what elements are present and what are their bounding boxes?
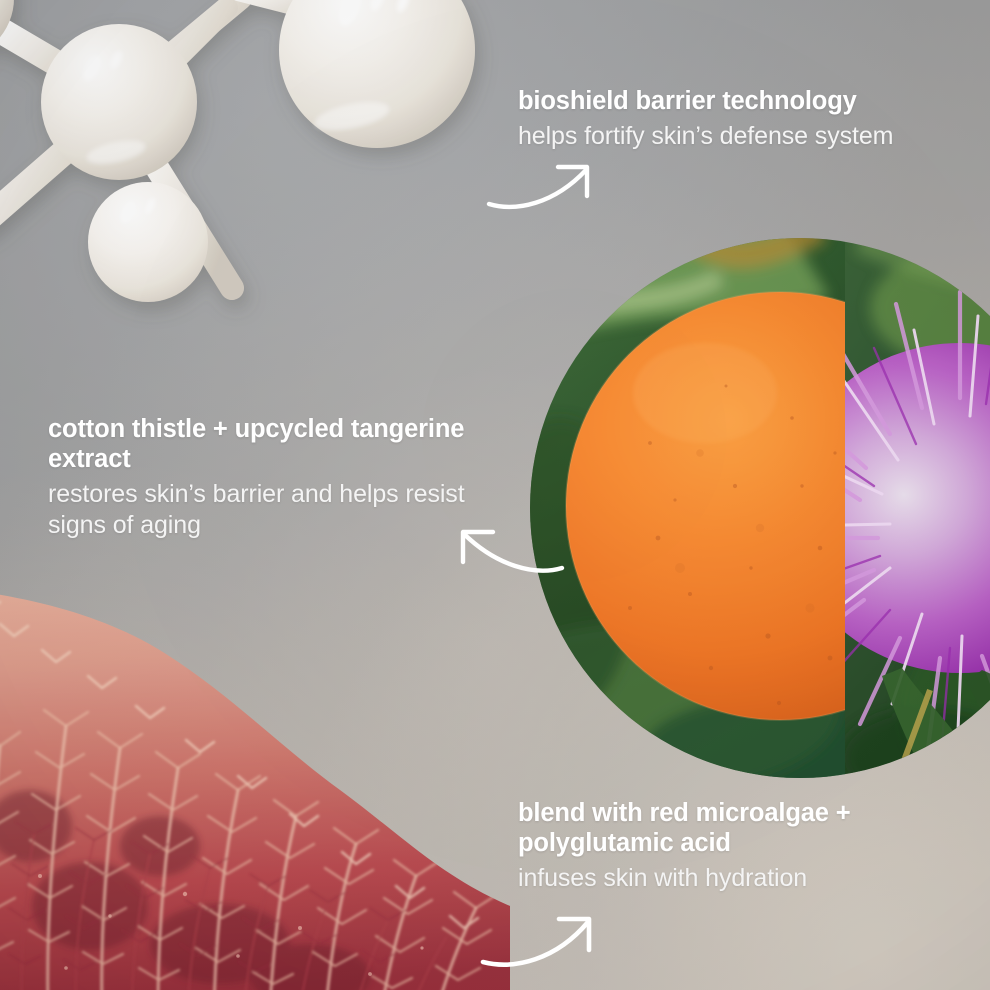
callout-title-red-microalgae: blend with red microalgae + polyglutamic… <box>518 798 918 858</box>
curved-arrow-up-right-icon <box>486 158 604 212</box>
callout-bioshield: bioshield barrier technology helps forti… <box>518 86 948 152</box>
callout-title-bioshield: bioshield barrier technology <box>518 86 948 116</box>
curved-arrow-up-right-icon-2 <box>480 912 606 970</box>
product-ingredient-infographic: bioshield barrier technology helps forti… <box>0 0 990 990</box>
callout-title-cotton-thistle: cotton thistle + upcycled tangerine extr… <box>48 414 518 474</box>
callout-cotton-thistle-tangerine: cotton thistle + upcycled tangerine extr… <box>48 414 518 541</box>
callout-subtitle-red-microalgae: infuses skin with hydration <box>518 863 918 894</box>
callout-subtitle-bioshield: helps fortify skin’s defense system <box>518 121 948 152</box>
callout-red-microalgae: blend with red microalgae + polyglutamic… <box>518 798 918 894</box>
curved-arrow-up-left-icon <box>447 524 565 576</box>
